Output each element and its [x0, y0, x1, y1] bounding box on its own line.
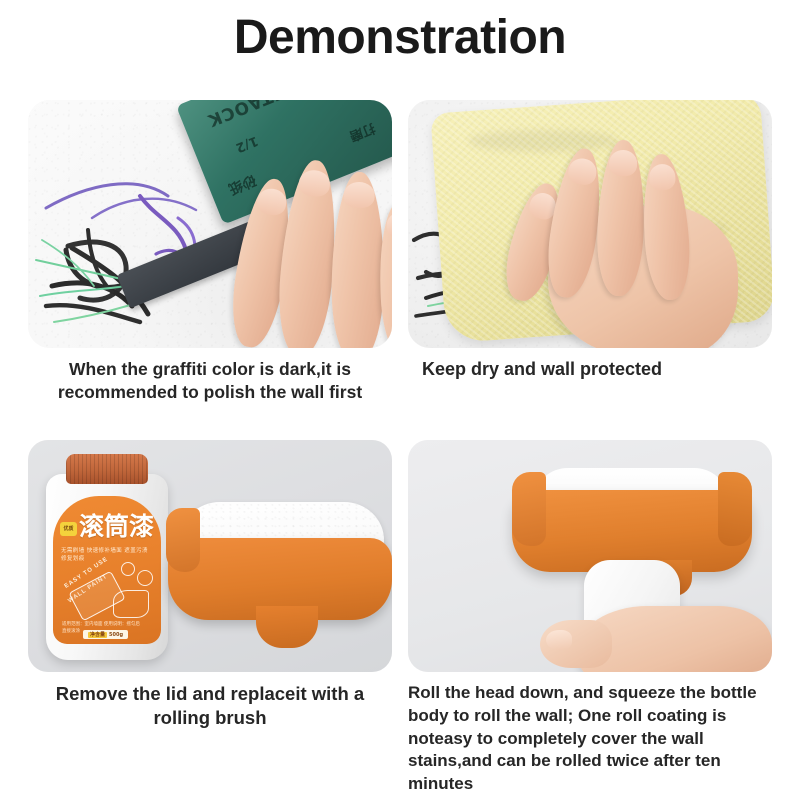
fingernail — [386, 211, 392, 238]
fingernail — [609, 150, 637, 177]
sanding-block-text-5: 打磨 — [347, 120, 378, 147]
fingernail — [343, 182, 375, 209]
roller-brush — [168, 502, 392, 664]
step-card-2: Keep dry and wall protected — [408, 100, 772, 382]
hand — [500, 130, 750, 345]
step-card-4: Roll the head down, and squeeze the bott… — [408, 440, 772, 796]
roller-arm — [166, 508, 200, 572]
finger — [274, 158, 343, 348]
roller-arm-right — [718, 472, 752, 546]
label-icon-circle — [137, 570, 153, 586]
thumbnail — [546, 630, 572, 650]
step-card-3: 优质 滚筒漆 无需刷墙 快速修补墙面 遮盖污渍 修复划痕 EASY TO USE… — [28, 440, 392, 731]
step-2-caption: Keep dry and wall protected — [408, 358, 772, 382]
demonstration-page: Demonstration — [0, 0, 800, 800]
label-icon-circle — [121, 562, 135, 576]
step-1-photo: QETAOCK 1/2 ST 砂纸 打磨 — [28, 100, 392, 348]
hand — [230, 154, 392, 348]
steps-grid: QETAOCK 1/2 ST 砂纸 打磨 When the graffiti c… — [0, 0, 800, 800]
label-net-weight-value: 500g — [109, 632, 123, 638]
roller-stem — [256, 606, 318, 648]
label-illustration: EASY TO USE WALL PAINT — [59, 558, 155, 620]
paint-bottle: 优质 滚筒漆 无需刷墙 快速修补墙面 遮盖污渍 修复划痕 EASY TO USE… — [46, 454, 168, 660]
step-4-caption: Roll the head down, and squeeze the bott… — [408, 682, 772, 796]
label-net-weight-key: 净含量 — [88, 632, 107, 638]
step-1-caption: When the graffiti color is dark,it is re… — [28, 358, 392, 404]
fingernail — [648, 163, 676, 191]
fingernail — [255, 187, 288, 217]
hand — [536, 586, 772, 672]
roller-arm-left — [512, 472, 546, 546]
step-4-photo — [408, 440, 772, 672]
finger — [330, 172, 385, 348]
label-product-name: 滚筒漆 — [79, 514, 154, 539]
step-3-photo: 优质 滚筒漆 无需刷墙 快速修补墙面 遮盖污渍 修复划痕 EASY TO USE… — [28, 440, 392, 672]
label-net-weight: 净含量500g — [83, 630, 128, 639]
fingernail — [567, 157, 598, 187]
sanding-block-text-1: QETAOCK — [204, 100, 301, 130]
hand-line-art-icon — [113, 590, 149, 618]
step-3-caption: Remove the lid and replaceit with a roll… — [28, 682, 392, 731]
bottle-label: 优质 滚筒漆 无需刷墙 快速修补墙面 遮盖污渍 修复划痕 EASY TO USE… — [53, 496, 161, 644]
step-card-1: QETAOCK 1/2 ST 砂纸 打磨 When the graffiti c… — [28, 100, 392, 404]
bottle-cap — [66, 454, 148, 484]
fingernail — [298, 169, 331, 198]
sanding-block-text-2: 1/2 — [233, 133, 260, 155]
step-2-photo — [408, 100, 772, 348]
label-badge: 优质 — [60, 522, 77, 536]
